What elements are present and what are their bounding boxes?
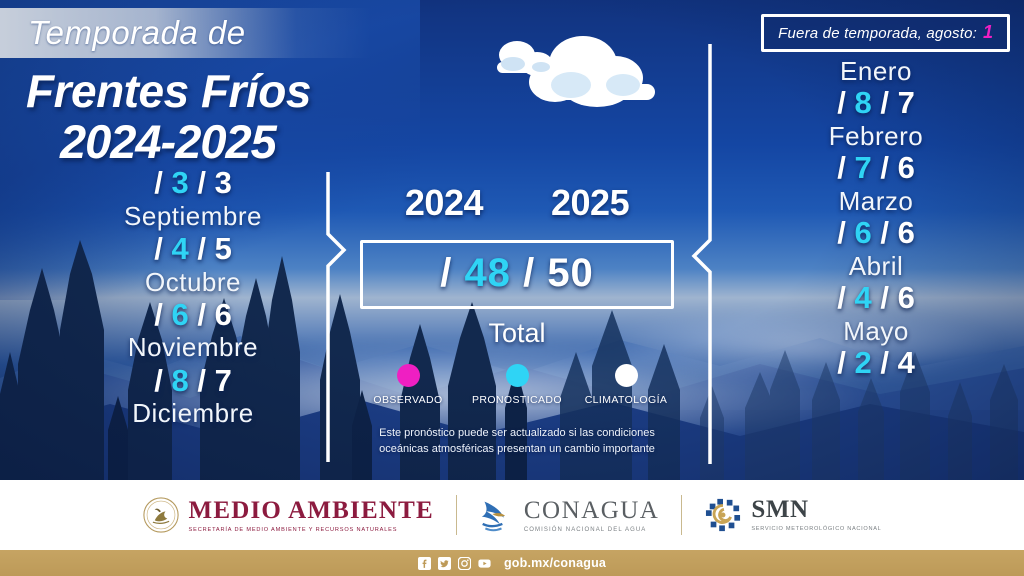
- forecast-value-septiembre: 3: [171, 165, 188, 200]
- month-name-mayo: Mayo: [762, 316, 990, 346]
- month-name-abril: Abril: [762, 251, 990, 281]
- month-values-diciembre: / 8 / 7: [78, 364, 308, 399]
- footer-logo-bar: MEDIO AMBIENTE SECRETARÍA DE MEDIO AMBIE…: [0, 480, 1024, 550]
- month-name-noviembre: Noviembre: [78, 332, 308, 362]
- circle-dot-icon-observado: [397, 364, 420, 387]
- climatology-value-septiembre: 3: [215, 165, 232, 200]
- legend-label-observado: OBSERVADO: [373, 394, 442, 406]
- slash-1: /: [154, 363, 163, 398]
- forecast-value-febrero: 7: [854, 150, 871, 185]
- legend-label-pronosticado: PRONOSTICADO: [472, 394, 562, 406]
- forecast-value-abril: 4: [854, 280, 871, 315]
- forecast-value-marzo: 6: [854, 215, 871, 250]
- logo-divider-2: [681, 495, 682, 535]
- total-box: / 48 / 50: [360, 240, 674, 309]
- slash-2: /: [197, 363, 206, 398]
- total-climatology-value: 50: [547, 251, 594, 295]
- conagua-text: CONAGUA COMISIÓN NACIONAL DEL AGUA: [524, 498, 660, 533]
- month-values-enero: / 8 / 7: [762, 86, 990, 121]
- month-values-septiembre: / 3 / 3: [78, 166, 308, 201]
- month-name-octubre: Octubre: [78, 267, 308, 297]
- circle-dot-icon-climatologia: [615, 364, 638, 387]
- logo-smn: SMN SERVICIO METEOROLÓGICO NACIONAL: [704, 497, 881, 533]
- offseason-label: Fuera de temporada, agosto:: [778, 25, 977, 42]
- slash-1: /: [154, 231, 163, 266]
- conagua-water-icon: [479, 498, 515, 532]
- month-name-septiembre: Septiembre: [78, 201, 308, 231]
- title-years: 2024-2025: [0, 114, 420, 169]
- medio-ambiente-subtitle: SECRETARÍA DE MEDIO AMBIENTE Y RECURSOS …: [189, 527, 434, 533]
- total-values: / 48 / 50: [363, 251, 671, 296]
- month-values-noviembre: / 6 / 6: [78, 298, 308, 333]
- conagua-title: CONAGUA: [524, 498, 660, 523]
- year-right-label: 2025: [551, 182, 629, 224]
- climatology-value-febrero: 6: [898, 150, 915, 185]
- legend-item-pronosticado: PRONOSTICADO: [467, 364, 567, 406]
- legend-item-observado: OBSERVADO: [358, 364, 458, 406]
- social-bar: gob.mx/conagua: [0, 550, 1024, 576]
- month-values-mayo: / 2 / 4: [762, 346, 990, 381]
- disclaimer: Este pronóstico puede ser actualizado si…: [352, 426, 682, 458]
- offseason-badge: Fuera de temporada, agosto: 1: [761, 14, 1010, 52]
- mexico-coat-of-arms-icon: [143, 497, 179, 533]
- youtube-icon[interactable]: [478, 557, 491, 570]
- slash-2: /: [880, 215, 889, 250]
- circle-dot-icon-pronosticado: [506, 364, 529, 387]
- slash-1: /: [837, 85, 846, 120]
- legend-row: OBSERVADO PRONOSTICADO CLIMATOLOGÍA: [352, 364, 682, 406]
- forecast-value-mayo: 2: [854, 345, 871, 380]
- total-forecast-value: 48: [464, 251, 511, 295]
- smn-spiral-icon: [704, 497, 742, 533]
- slash-2: /: [197, 297, 206, 332]
- medio-ambiente-title: MEDIO AMBIENTE: [189, 498, 434, 523]
- legend-label-climatologia: CLIMATOLOGÍA: [585, 394, 668, 406]
- poster-title-block: Temporada de Frentes Fríos 2024-2025: [0, 8, 420, 169]
- climatology-value-mayo: 4: [898, 345, 915, 380]
- slash-2: /: [880, 280, 889, 315]
- months-column-2025: Enero / 8 / 7 Febrero / 7 / 6 Marzo / 6 …: [762, 56, 990, 380]
- twitter-icon[interactable]: [438, 557, 451, 570]
- logo-divider-1: [456, 495, 457, 535]
- climatology-value-noviembre: 6: [215, 297, 232, 332]
- month-name-diciembre: Diciembre: [78, 398, 308, 428]
- forecast-value-enero: 8: [854, 85, 871, 120]
- climatology-value-octubre: 5: [215, 231, 232, 266]
- season-label: Temporada de: [0, 14, 246, 52]
- month-name-enero: Enero: [762, 56, 990, 86]
- total-panel: 2024 2025 / 48 / 50 Total: [352, 182, 682, 349]
- slash-2: /: [197, 165, 206, 200]
- forecast-value-diciembre: 8: [171, 363, 188, 398]
- page-title: Frentes Fríos: [0, 64, 420, 118]
- month-values-octubre: / 4 / 5: [78, 232, 308, 267]
- climatology-value-enero: 7: [898, 85, 915, 120]
- disclaimer-line-2: oceánicas atmosféricas presentan un camb…: [352, 442, 682, 458]
- smn-title: SMN: [751, 497, 881, 522]
- chevron-left-divider: [690, 44, 716, 464]
- climatology-value-marzo: 6: [898, 215, 915, 250]
- months-column-2024: / 3 / 3 Septiembre / 4 / 5 Octubre / 6 /…: [78, 166, 308, 429]
- logo-conagua: CONAGUA COMISIÓN NACIONAL DEL AGUA: [479, 498, 660, 533]
- legend: OBSERVADO PRONOSTICADO CLIMATOLOGÍA Este…: [352, 364, 682, 458]
- website-url[interactable]: gob.mx/conagua: [504, 556, 606, 570]
- forecast-value-octubre: 4: [171, 231, 188, 266]
- infographic-poster: Temporada de Frentes Fríos 2024-2025 Fue…: [0, 0, 1024, 576]
- disclaimer-line-1: Este pronóstico puede ser actualizado si…: [352, 426, 682, 442]
- month-values-marzo: / 6 / 6: [762, 216, 990, 251]
- slash-2: /: [880, 150, 889, 185]
- slash-1: /: [837, 150, 846, 185]
- year-headers: 2024 2025: [352, 182, 682, 224]
- cloud-illustration: [455, 22, 670, 132]
- season-label-band: Temporada de: [0, 8, 370, 58]
- smn-text: SMN SERVICIO METEOROLÓGICO NACIONAL: [751, 497, 881, 533]
- slash-1: /: [837, 345, 846, 380]
- conagua-subtitle: COMISIÓN NACIONAL DEL AGUA: [524, 527, 660, 533]
- slash-1: /: [837, 280, 846, 315]
- forecast-value-noviembre: 6: [171, 297, 188, 332]
- year-left-label: 2024: [405, 182, 483, 224]
- logo-medio-ambiente: MEDIO AMBIENTE SECRETARÍA DE MEDIO AMBIE…: [143, 497, 434, 533]
- month-name-marzo: Marzo: [762, 186, 990, 216]
- month-name-febrero: Febrero: [762, 121, 990, 151]
- legend-item-climatologia: CLIMATOLOGÍA: [576, 364, 676, 406]
- slash-2: /: [880, 345, 889, 380]
- climatology-value-diciembre: 7: [215, 363, 232, 398]
- smn-subtitle: SERVICIO METEOROLÓGICO NACIONAL: [751, 525, 881, 533]
- slash-2: /: [197, 231, 206, 266]
- slash-1: /: [837, 215, 846, 250]
- offseason-value: 1: [983, 22, 993, 43]
- slash-1: /: [154, 165, 163, 200]
- slash-1: /: [154, 297, 163, 332]
- medio-ambiente-text: MEDIO AMBIENTE SECRETARÍA DE MEDIO AMBIE…: [189, 498, 434, 533]
- slash-1: /: [440, 251, 452, 295]
- month-values-febrero: / 7 / 6: [762, 151, 990, 186]
- slash-2: /: [523, 251, 535, 295]
- month-values-abril: / 4 / 6: [762, 281, 990, 316]
- climatology-value-abril: 6: [898, 280, 915, 315]
- facebook-icon[interactable]: [418, 557, 431, 570]
- total-label: Total: [352, 318, 682, 349]
- instagram-icon[interactable]: [458, 557, 471, 570]
- slash-2: /: [880, 85, 889, 120]
- chevron-right-divider: [322, 172, 348, 462]
